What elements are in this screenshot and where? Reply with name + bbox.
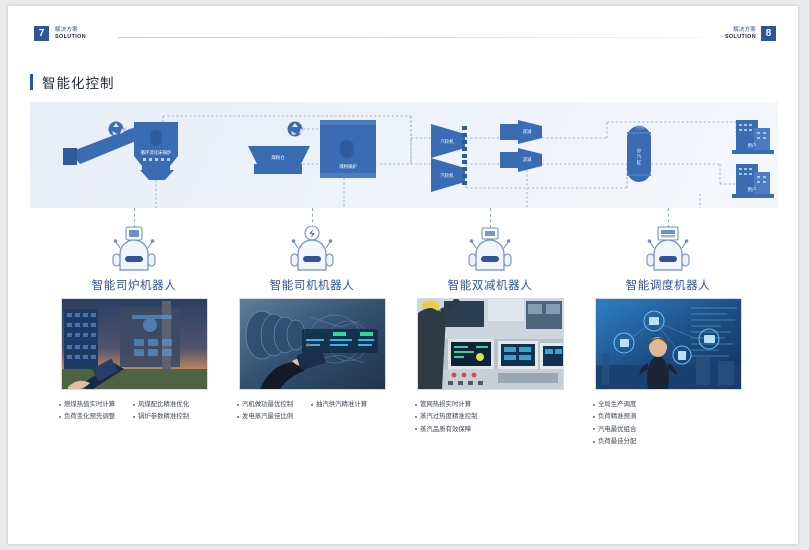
- bullet-list-2: 汽机做功最优控制 发电蒸汽最佳比例 抽汽供汽精准计算: [237, 399, 387, 424]
- header-right-cn: 解决方案: [725, 27, 756, 34]
- robot-card-1[interactable]: 智能司炉机器人: [46, 208, 222, 293]
- bullet-item: 抽汽供汽精准计算: [311, 399, 387, 411]
- bullet-list-3: 管网热损实时计算 蒸汽过热度精准控制 蒸汽品质有效保障: [415, 399, 565, 436]
- bullet-item: 负荷精准预测: [593, 411, 743, 423]
- slide: 7 解决方案 SOLUTION 解决方案 SOLUTION 8 智能化控制 .e…: [8, 6, 798, 544]
- bullet-item: 蒸汽过热度精准控制: [415, 411, 565, 423]
- header-left-number: 7: [34, 26, 49, 41]
- label-coal-bunker: 煤粉仓: [271, 154, 285, 161]
- title-accent-bar: [30, 74, 33, 90]
- bullet-item: 发电蒸汽最佳比例: [237, 411, 311, 423]
- label-grid-1: 内部: [636, 124, 645, 131]
- robot-card-3[interactable]: 智能双减机器人: [402, 208, 578, 293]
- connector-line-2: [312, 208, 313, 228]
- detail-columns: 燃煤热值实时计算 负荷变化预先调整 风煤配比精准优化 锅炉参数精准控制: [30, 298, 778, 448]
- header-right-text: 解决方案 SOLUTION: [725, 27, 756, 41]
- header-left-cn: 解决方案: [55, 27, 86, 34]
- connector-line-4: [668, 208, 669, 228]
- label-cfb-boiler: 循环流化床锅炉: [141, 149, 172, 156]
- bullet-item: 汽电最优组合: [593, 424, 743, 436]
- bullet-item: 负荷最佳分配: [593, 436, 743, 448]
- robot-icon-4: [642, 226, 694, 272]
- robot-icon-2: [286, 226, 338, 272]
- robot-label-3: 智能双减机器人: [402, 277, 578, 293]
- label-user-1: 用户: [748, 142, 757, 149]
- label-steam-header-3: 缸: [637, 159, 642, 165]
- detail-column-3: 管网热损实时计算 蒸汽过热度精准控制 蒸汽品质有效保障: [402, 298, 578, 436]
- bullet-item: 风煤配比精准优化: [133, 399, 209, 411]
- header-left-text: 解决方案 SOLUTION: [55, 27, 86, 41]
- photo-engineer-digital-dashboard: [595, 298, 742, 390]
- photo-power-plant-digital-overlay: [61, 298, 208, 390]
- photo-control-room: [417, 298, 564, 390]
- slide-header: 7 解决方案 SOLUTION 解决方案 SOLUTION 8: [8, 6, 798, 50]
- bullet-item: 汽机做功最优控制: [237, 399, 311, 411]
- header-divider: [118, 37, 701, 38]
- bullet-list-4: 全局生产调度 负荷精准预测 汽电最优组合 负荷最佳分配: [593, 399, 743, 449]
- connector-line-1: [134, 208, 135, 228]
- bullet-item: 全局生产调度: [593, 399, 743, 411]
- robot-row: 智能司炉机器人 智能司机机器人: [30, 208, 778, 298]
- bullet-item: 锅炉参数精准控制: [133, 411, 209, 423]
- label-reducer-2: 双减: [523, 156, 532, 163]
- label-user-2: 用户: [748, 186, 757, 193]
- header-left-en: SOLUTION: [55, 34, 86, 41]
- process-diagram: .eq{fill:#3a6cb4;} .eq-d{fill:#2f5a9b;} …: [30, 102, 778, 208]
- robot-icon-3: [464, 226, 516, 272]
- robot-label-1: 智能司炉机器人: [46, 277, 222, 293]
- connector-line-3: [490, 208, 491, 228]
- header-right-number: 8: [761, 26, 776, 41]
- header-right-en: SOLUTION: [725, 34, 756, 41]
- bullet-item: 燃煤热值实时计算: [59, 399, 133, 411]
- robot-label-2: 智能司机机器人: [224, 277, 400, 293]
- photo-turbine-hud-overlay: [239, 298, 386, 390]
- header-left-brand: 7 解决方案 SOLUTION: [34, 26, 86, 41]
- bullet-item: 蒸汽品质有效保障: [415, 424, 565, 436]
- detail-column-2: 汽机做功最优控制 发电蒸汽最佳比例 抽汽供汽精准计算: [224, 298, 400, 424]
- label-steam-header-2: 汽: [637, 153, 642, 159]
- detail-column-1: 燃煤热值实时计算 负荷变化预先调整 风煤配比精准优化 锅炉参数精准控制: [46, 298, 222, 424]
- detail-column-4: 全局生产调度 负荷精准预测 汽电最优组合 负荷最佳分配: [580, 298, 756, 449]
- bullet-list-1: 燃煤热值实时计算 负荷变化预先调整 风煤配比精准优化 锅炉参数精准控制: [59, 399, 209, 424]
- monitor-icon: [661, 230, 675, 234]
- label-reducer-1: 双减: [523, 128, 532, 135]
- robot-label-4: 智能调度机器人: [580, 277, 756, 293]
- label-pulverized-boiler: 煤粉锅炉: [339, 163, 357, 170]
- header-right-brand: 解决方案 SOLUTION 8: [725, 26, 776, 41]
- page-title: 智能化控制: [30, 72, 115, 92]
- label-steam-header: 分: [637, 147, 642, 154]
- robot-card-4[interactable]: 智能调度机器人: [580, 208, 756, 293]
- gauge-icon: [485, 231, 495, 236]
- title-text: 智能化控制: [42, 72, 115, 92]
- label-turbine-1: 汽轮机: [440, 138, 454, 145]
- process-diagram-svg: .eq{fill:#3a6cb4;} .eq-d{fill:#2f5a9b;} …: [30, 102, 778, 208]
- label-turbine-2: 汽轮机: [440, 172, 454, 179]
- robot-card-2[interactable]: 智能司机机器人: [224, 208, 400, 293]
- bullet-item: 负荷变化预先调整: [59, 411, 133, 423]
- bullet-item: 管网热损实时计算: [415, 399, 565, 411]
- robot-icon-1: [108, 226, 160, 272]
